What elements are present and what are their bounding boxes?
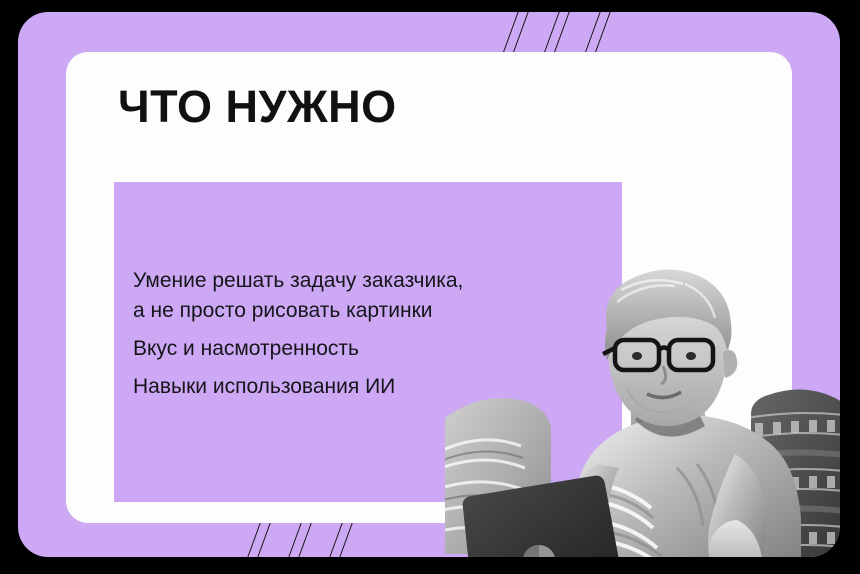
list-item: Умение решать задачу заказчика, а не про…	[133, 266, 603, 326]
content-block: Умение решать задачу заказчика, а не про…	[114, 182, 622, 502]
slide-root: ЧТО НУЖНО Умение решать задачу заказчика…	[0, 0, 860, 574]
list-item: Навыки использования ИИ	[133, 372, 603, 402]
page-title: ЧТО НУЖНО	[118, 84, 397, 129]
diagonal-slash-icon	[543, 12, 571, 56]
bullet-list: Умение решать задачу заказчика, а не про…	[133, 266, 603, 402]
diagonal-slash-icon	[502, 12, 530, 56]
white-card: ЧТО НУЖНО Умение решать задачу заказчика…	[66, 52, 792, 523]
purple-frame: ЧТО НУЖНО Умение решать задачу заказчика…	[18, 12, 840, 557]
diagonal-slash-icon	[584, 12, 612, 56]
list-item: Вкус и насмотренность	[133, 334, 603, 364]
